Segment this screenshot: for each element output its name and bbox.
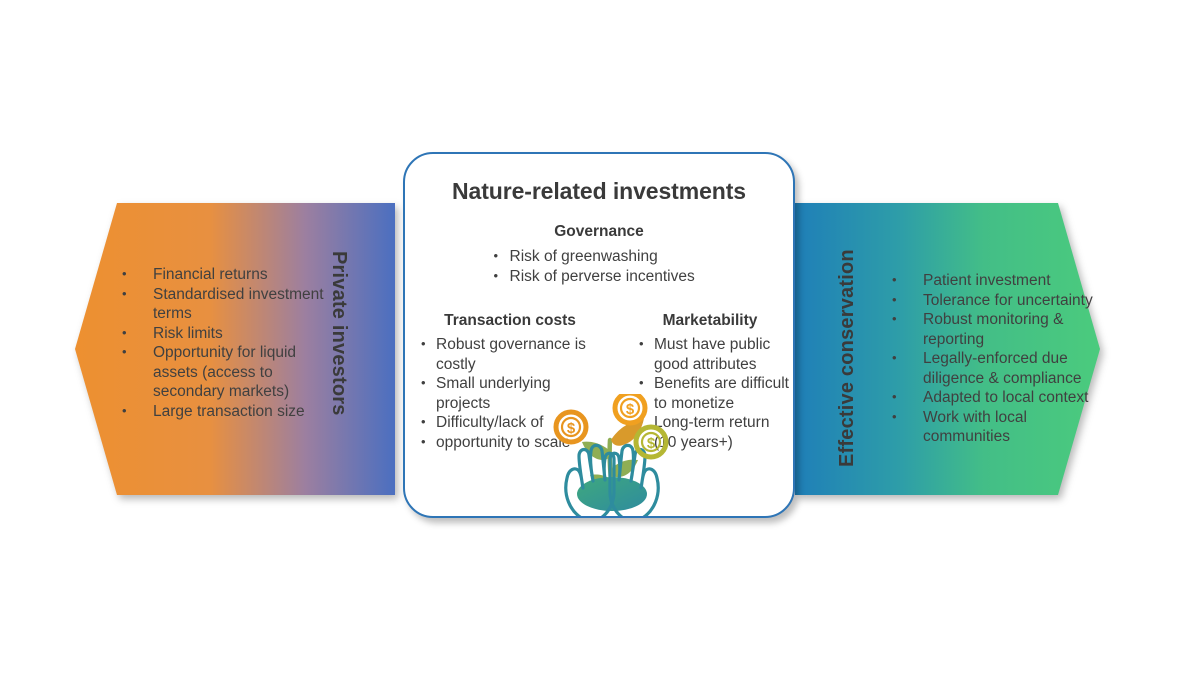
svg-text:$: $ xyxy=(647,435,656,452)
right-arrow-bullet-list: Patient investment Tolerance for uncerta… xyxy=(886,271,1108,447)
list-item: Adapted to local context xyxy=(886,388,1108,408)
nature-related-investments-card: Nature-related investments Governance Ri… xyxy=(403,152,795,518)
coin-icon-right: $ xyxy=(636,427,666,457)
list-item: Risk limits xyxy=(116,324,331,344)
coin-icon-left: $ xyxy=(556,412,586,442)
hands-holding-plant-with-coins-icon: $ $ $ xyxy=(547,394,677,518)
coin-icon-top: $ xyxy=(615,394,645,423)
transaction-costs-heading: Transaction costs xyxy=(417,312,603,330)
svg-text:$: $ xyxy=(567,420,576,437)
list-item: Risk of perverse incentives xyxy=(492,267,707,287)
diagram-canvas: Financial returns Standardised investmen… xyxy=(0,0,1200,675)
marketability-heading: Marketability xyxy=(629,312,791,330)
list-item: Work with local communities xyxy=(886,408,1108,447)
list-item: Tolerance for uncertainty xyxy=(886,291,1108,311)
list-item: Must have public good attributes xyxy=(637,335,791,374)
governance-bullet-list: Risk of greenwashing Risk of perverse in… xyxy=(492,247,707,286)
right-arrow-label: Effective conservation xyxy=(836,249,859,467)
card-title: Nature-related investments xyxy=(405,178,793,205)
list-item: Patient investment xyxy=(886,271,1108,291)
svg-text:$: $ xyxy=(626,401,635,418)
list-item: Risk of greenwashing xyxy=(492,247,707,267)
list-item: Opportunity for liquid assets (access to… xyxy=(116,343,331,402)
governance-heading: Governance xyxy=(405,223,793,241)
list-item: Financial returns xyxy=(116,265,331,285)
list-item: Robust governance is costly xyxy=(419,335,603,374)
left-arrow-bullet-list: Financial returns Standardised investmen… xyxy=(116,265,331,421)
list-item: Legally-enforced due diligence & complia… xyxy=(886,349,1108,388)
governance-section: Governance Risk of greenwashing Risk of … xyxy=(405,223,793,286)
left-arrow-label: Private investors xyxy=(327,251,350,416)
list-item: Standardised investment terms xyxy=(116,285,331,324)
list-item: Robust monitoring & reporting xyxy=(886,310,1108,349)
list-item: Large transaction size xyxy=(116,402,331,422)
